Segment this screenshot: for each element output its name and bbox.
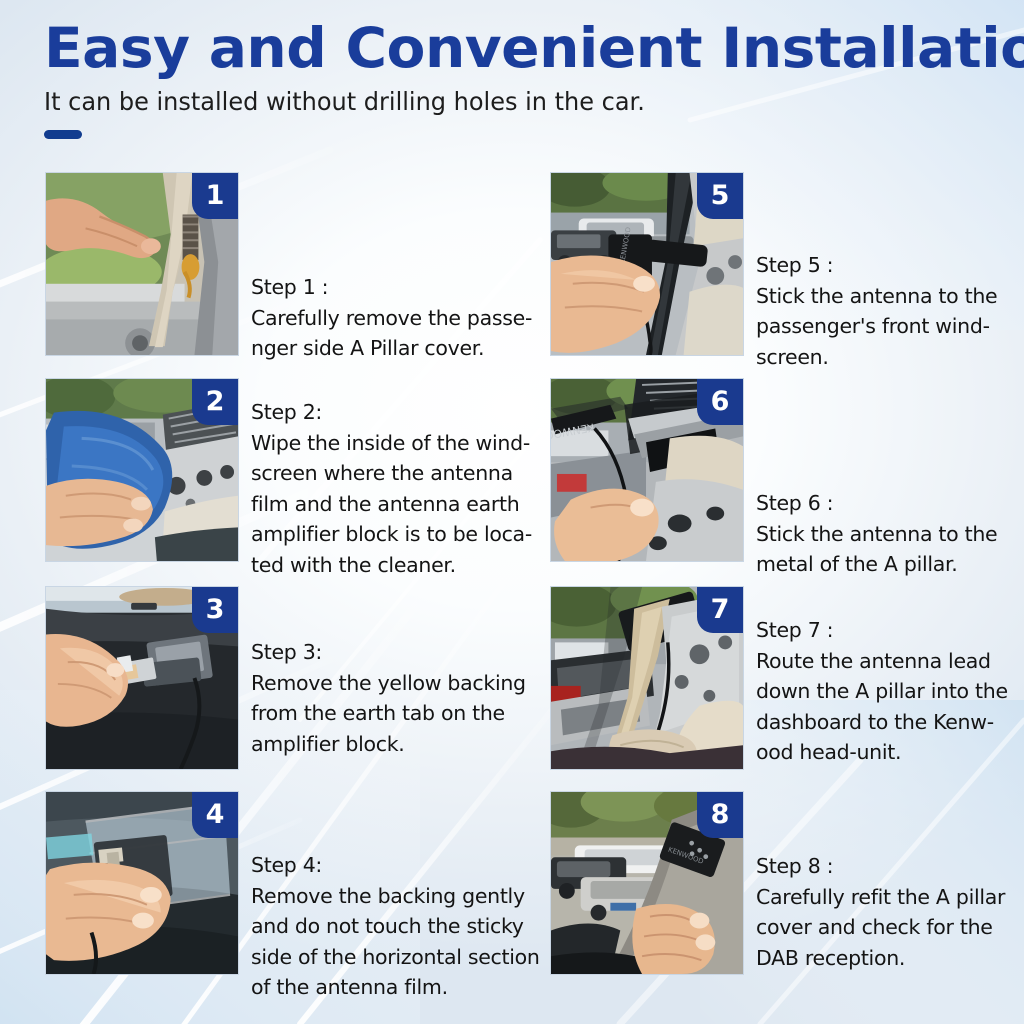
step-photo-3: 3 (45, 586, 239, 770)
step-photo-7: KENWOOD 7 (550, 586, 744, 770)
step-text-4: Step 4: Remove the backing gently and do… (251, 850, 551, 1003)
page-header: Easy and Convenient Installation It can … (44, 18, 984, 139)
step-item-5: KENWOOD 5 Step 5 : Stick the antenna to … (550, 172, 1024, 372)
step-text-5: Step 5 : Stick the antenna to the passen… (756, 250, 1024, 372)
step-item-7: KENWOOD 7 Step 7 : Route the anten (550, 586, 1024, 770)
step-badge-7: 7 (697, 587, 743, 633)
step-text-2: Step 2: Wipe the inside of the wind- scr… (251, 397, 551, 580)
step-badge-5: 5 (697, 173, 743, 219)
step-text-8: Step 8 : Carefully refit the A pillar co… (756, 851, 1024, 973)
step-text-1: Step 1 : Carefully remove the passe- nge… (251, 272, 551, 364)
step-item-8: KENWOOD 8 Step 8 : Carefully refit the A… (550, 791, 1024, 975)
step-photo-8: KENWOOD 8 (550, 791, 744, 975)
step-item-4: 4 Step 4: Remove the backing gently and … (45, 791, 551, 1003)
page-subtitle: It can be installed without drilling hol… (44, 87, 946, 117)
step-badge-2: 2 (192, 379, 238, 425)
step-item-6: KENWOOD 6 Step 6 : Stick the antenna to … (550, 378, 1024, 580)
step-badge-6: 6 (697, 379, 743, 425)
accent-dash-divider (44, 130, 82, 139)
step-item-1: 1 Step 1 : Carefully remove the passe- n… (45, 172, 551, 364)
step-badge-8: 8 (697, 792, 743, 838)
step-photo-6: KENWOOD 6 (550, 378, 744, 562)
step-badge-4: 4 (192, 792, 238, 838)
step-badge-3: 3 (192, 587, 238, 633)
step-badge-1: 1 (192, 173, 238, 219)
step-text-7: Step 7 : Route the antenna lead down the… (756, 615, 1024, 768)
step-text-6: Step 6 : Stick the antenna to the metal … (756, 488, 1024, 580)
step-item-2: 2 Step 2: Wipe the inside of the wind- s… (45, 378, 551, 580)
step-photo-2: 2 (45, 378, 239, 562)
step-photo-4: 4 (45, 791, 239, 975)
step-text-3: Step 3: Remove the yellow backing from t… (251, 637, 551, 759)
page-title: Easy and Convenient Installation (44, 18, 1012, 78)
step-photo-5: KENWOOD 5 (550, 172, 744, 356)
step-photo-1: 1 (45, 172, 239, 356)
step-item-3: 3 Step 3: Remove the yellow backing from… (45, 586, 551, 770)
